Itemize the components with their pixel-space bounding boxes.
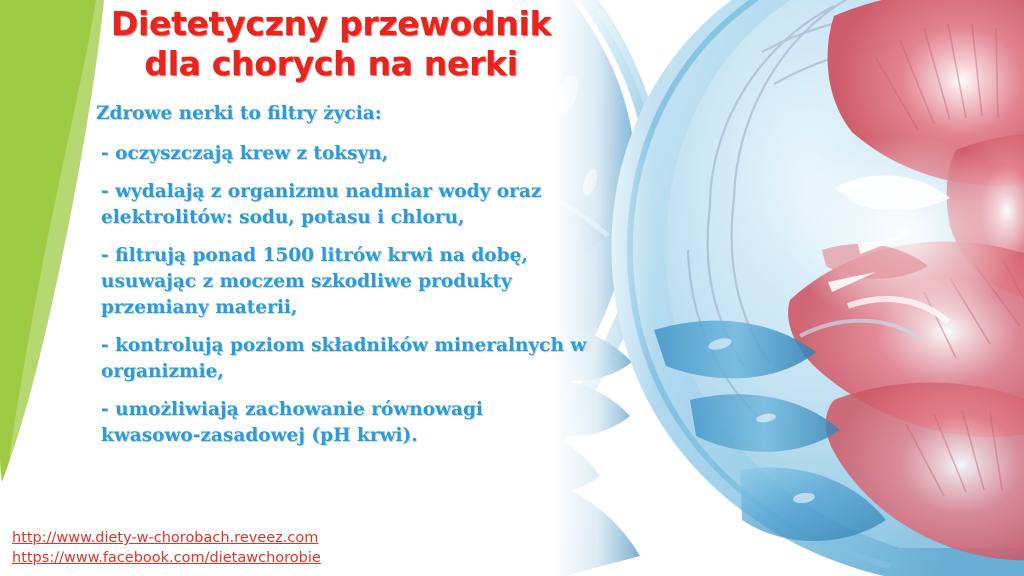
title-line-2: dla chorych na nerki xyxy=(96,44,566,84)
body-bullet-5: - umożliwiają zachowanie równowagi kwaso… xyxy=(96,397,588,449)
title-line-1: Dietetyczny przewodnik xyxy=(96,4,566,44)
body-bullet-3: - filtrują ponad 1500 litrów krwi na dob… xyxy=(96,243,588,321)
footer-links: http://www.diety-w-chorobach.reveez.com … xyxy=(12,528,321,568)
footer-link-facebook[interactable]: https://www.facebook.com/dietawchorobie xyxy=(12,548,321,568)
footer-link-website[interactable]: http://www.diety-w-chorobach.reveez.com xyxy=(12,528,321,548)
body-bullet-4: - kontrolują poziom składników mineralny… xyxy=(96,333,588,385)
slide-canvas: Dietetyczny przewodnik dla chorych na ne… xyxy=(0,0,1024,576)
body-content: Zdrowe nerki to filtry życia: - oczyszcz… xyxy=(96,101,588,461)
body-bullet-2: - wydalają z organizmu nadmiar wody oraz… xyxy=(96,179,588,231)
body-lead-text: Zdrowe nerki to filtry życia: xyxy=(96,101,588,127)
page-title: Dietetyczny przewodnik dla chorych na ne… xyxy=(96,4,566,84)
body-bullet-1: - oczyszczają krew z toksyn, xyxy=(96,141,588,167)
